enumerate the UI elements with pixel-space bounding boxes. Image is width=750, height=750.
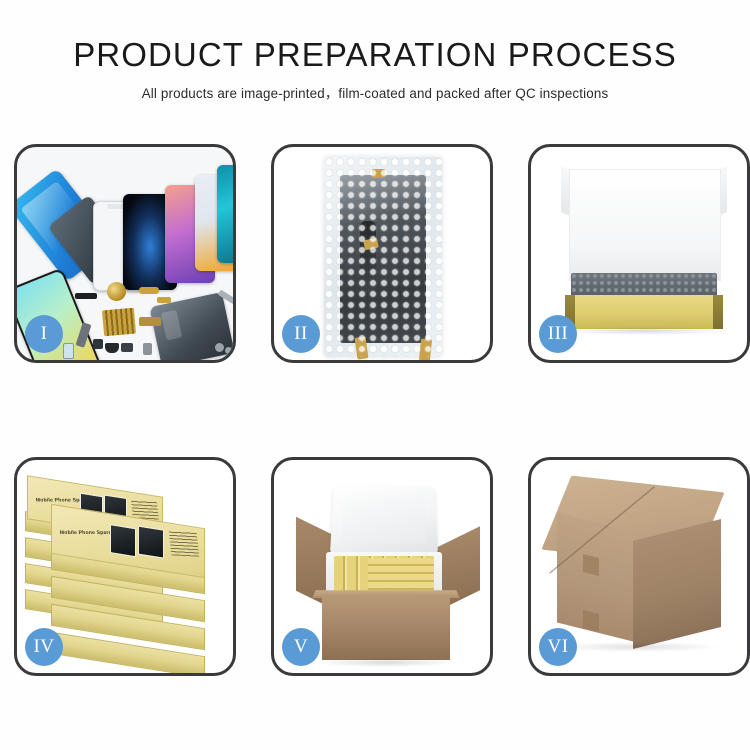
process-step-grid: I II — [14, 144, 738, 676]
process-step-3[interactable]: III — [528, 144, 750, 363]
drop-shadow — [557, 642, 719, 652]
step-badge-4: IV — [25, 628, 63, 666]
spec-text-lines — [169, 531, 199, 557]
spare-part — [93, 339, 103, 349]
spare-part — [121, 343, 133, 352]
product-window — [110, 524, 136, 557]
drop-shadow — [561, 327, 727, 335]
wrapped-lcd-screen — [340, 175, 426, 343]
process-step-2[interactable]: II — [271, 144, 493, 363]
page-title: PRODUCT PREPARATION PROCESS — [0, 38, 750, 73]
spare-part — [225, 347, 232, 354]
header: PRODUCT PREPARATION PROCESS All products… — [0, 38, 750, 102]
process-step-4[interactable]: Mobile Phone Spare Parts Mobile Phone Sp… — [14, 457, 236, 676]
yellow-box-base — [565, 295, 723, 329]
spare-part — [143, 343, 152, 355]
box-corner-right — [713, 295, 723, 329]
step-badge-3: III — [539, 315, 577, 353]
spare-part — [139, 317, 161, 326]
spare-part — [75, 293, 97, 299]
spare-part — [157, 297, 171, 303]
process-step-1[interactable]: I — [14, 144, 236, 363]
carton-right-face — [633, 519, 721, 649]
product-preparation-infographic: PRODUCT PREPARATION PROCESS All products… — [0, 0, 750, 750]
product-window — [138, 526, 164, 559]
white-box-interior — [569, 169, 721, 281]
flex-cable-connector — [372, 169, 385, 178]
bubble-wrap-bag — [324, 157, 442, 357]
process-step-6[interactable]: VI — [528, 457, 750, 676]
vibration-motor-part — [107, 282, 126, 301]
drop-shadow — [318, 658, 454, 667]
step-badge-2: II — [282, 315, 320, 353]
spare-part — [105, 343, 119, 353]
ic-chip-grid — [102, 308, 136, 337]
step-badge-6: VI — [539, 628, 577, 666]
foam-lid — [330, 486, 438, 554]
carton-tape-patch — [583, 610, 599, 632]
spare-part — [63, 343, 74, 359]
carton-tape-patch — [583, 554, 599, 576]
process-step-5[interactable]: V — [271, 457, 493, 676]
spare-part — [139, 287, 159, 294]
phone-teal-gradient — [217, 165, 233, 263]
spare-part — [215, 343, 224, 352]
page-subtitle: All products are image-printed，film-coat… — [0, 82, 750, 102]
step-badge-1: I — [25, 315, 63, 353]
flex-cable-connector — [419, 338, 432, 360]
step-badge-5: V — [282, 628, 320, 666]
carton-front-face — [322, 594, 450, 660]
